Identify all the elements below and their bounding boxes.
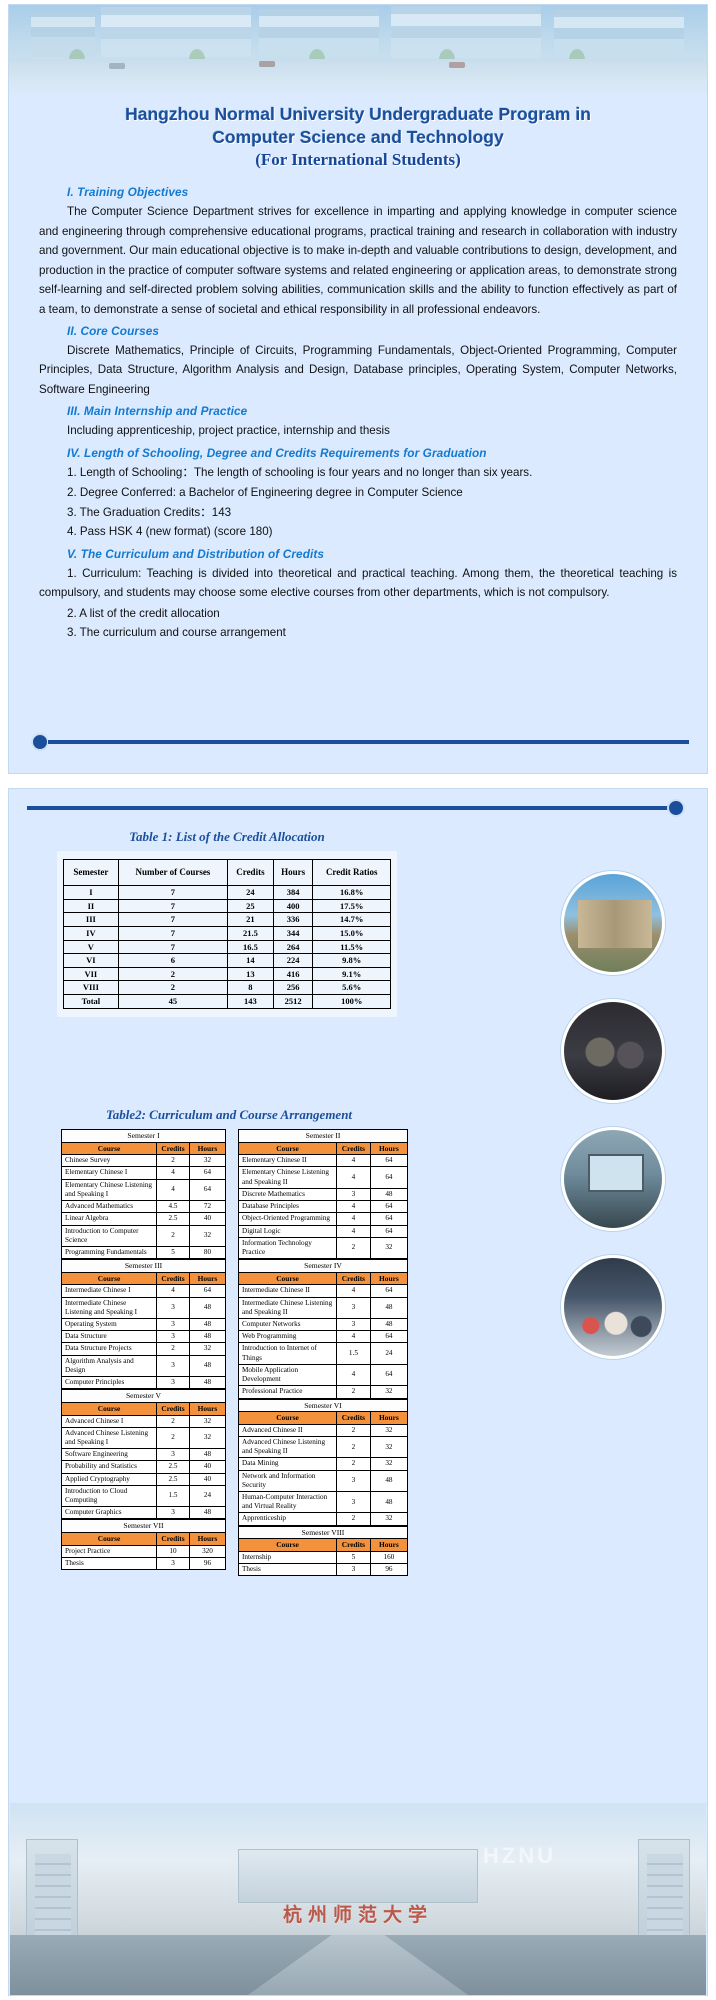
semester-block: Semester IVCourseCreditsHoursIntermediat… <box>238 1259 408 1398</box>
table1-container: Semester Number of Courses Credits Hours… <box>57 851 397 1017</box>
hours-cell: 64 <box>370 1201 407 1213</box>
section-4-item-3: 3. The Graduation Credits：143 <box>39 503 677 522</box>
section-heading-2: II. Core Courses <box>67 324 677 338</box>
curriculum-header-row: CourseCreditsHours <box>62 1403 226 1415</box>
panel-tables: Table 1: List of the Credit Allocation S… <box>8 788 708 1996</box>
table1-cell-1: 7 <box>118 913 227 927</box>
curriculum-header-row: CourseCreditsHours <box>239 1272 408 1284</box>
photo-students-lab <box>561 999 665 1103</box>
table1-cell-0: VII <box>64 967 119 981</box>
hours-cell: 64 <box>370 1364 407 1385</box>
course-name-cell: Introduction to Cloud Computing <box>62 1485 157 1506</box>
credits-cell: 3 <box>157 1319 190 1331</box>
table1-cell-4: 15.0% <box>313 926 391 940</box>
table-row: Computer Graphics348 <box>62 1507 226 1519</box>
hours-cell: 48 <box>189 1377 225 1389</box>
hours-cell: 48 <box>189 1297 225 1318</box>
table-row: Data Structure348 <box>62 1331 226 1343</box>
table1-cell-4: 17.5% <box>313 899 391 913</box>
credits-cell: 2 <box>157 1415 190 1427</box>
credits-cell: 2 <box>337 1458 371 1470</box>
credits-cell: 1.5 <box>337 1343 371 1364</box>
curriculum-th-hours: Hours <box>189 1272 225 1284</box>
curriculum-header-row: CourseCreditsHours <box>62 1272 226 1284</box>
table1-cell-3: 336 <box>273 913 313 927</box>
hours-cell: 32 <box>370 1458 407 1470</box>
credits-cell: 4 <box>157 1179 190 1200</box>
curriculum-th-credits: Credits <box>337 1539 371 1551</box>
table1-cell-2: 16.5 <box>228 940 274 954</box>
semester-block: Semester VIIICourseCreditsHoursInternshi… <box>238 1526 408 1577</box>
table1-cell-1: 2 <box>118 967 227 981</box>
hours-cell: 160 <box>370 1551 407 1563</box>
curriculum-column-left: Semester ICourseCreditsHoursChinese Surv… <box>61 1129 226 1576</box>
table-row: Advanced Chinese II232 <box>239 1424 408 1436</box>
credits-cell: 3 <box>157 1355 190 1376</box>
building-4 <box>391 6 541 58</box>
credits-cell: 3 <box>337 1319 371 1331</box>
table-row: II72540017.5% <box>64 899 391 913</box>
document-body: I. Training Objectives The Computer Scie… <box>9 170 707 642</box>
hours-cell: 40 <box>189 1461 225 1473</box>
credits-cell: 2 <box>337 1424 371 1436</box>
hours-cell: 64 <box>370 1167 407 1188</box>
credits-cell: 4.5 <box>157 1201 190 1213</box>
hours-cell: 24 <box>370 1343 407 1364</box>
curriculum-header-row: CourseCreditsHours <box>239 1412 408 1424</box>
hours-cell: 48 <box>370 1470 407 1491</box>
curriculum-th-course: Course <box>62 1533 157 1545</box>
course-name-cell: Advanced Chinese I <box>62 1415 157 1427</box>
table1-cell-0: I <box>64 886 119 900</box>
credits-cell: 3 <box>157 1377 190 1389</box>
course-name-cell: Human-Computer Interaction and Virtual R… <box>239 1492 337 1513</box>
table-row: VI6142249.8% <box>64 954 391 968</box>
table-row: Apprenticeship232 <box>239 1513 408 1525</box>
section-heading-3: III. Main Internship and Practice <box>67 404 677 418</box>
course-name-cell: Intermediate Chinese II <box>239 1285 337 1297</box>
table1-cell-2: 13 <box>228 967 274 981</box>
table-row: Introduction to Internet of Things1.524 <box>239 1343 408 1364</box>
course-name-cell: Data Structure <box>62 1331 157 1343</box>
table1-cell-4: 9.8% <box>313 954 391 968</box>
table-row: Digital Logic464 <box>239 1225 408 1237</box>
table-row: III72133614.7% <box>64 913 391 927</box>
credits-cell: 3 <box>337 1188 371 1200</box>
curriculum-th-hours: Hours <box>370 1272 407 1284</box>
section-5-item-3: 3. The curriculum and course arrangement <box>39 623 677 642</box>
photo-campus-building <box>561 871 665 975</box>
table-row: Algorithm Analysis and Design348 <box>62 1355 226 1376</box>
table-row: Elementary Chinese II464 <box>239 1155 408 1167</box>
course-name-cell: Operating System <box>62 1319 157 1331</box>
course-name-cell: Thesis <box>239 1564 337 1576</box>
curriculum-table: Semester VICourseCreditsHoursAdvanced Ch… <box>238 1399 408 1526</box>
page-title-line1: Hangzhou Normal University Undergraduate… <box>39 103 677 126</box>
hours-cell: 40 <box>189 1473 225 1485</box>
hours-cell: 64 <box>189 1167 225 1179</box>
table1-cell-2: 25 <box>228 899 274 913</box>
table-row: Intermediate Chinese II464 <box>239 1285 408 1297</box>
table-row: Object-Oriented Programming464 <box>239 1213 408 1225</box>
course-name-cell: Introduction to Internet of Things <box>239 1343 337 1364</box>
table-row: Elementary Chinese Listening and Speakin… <box>62 1179 226 1200</box>
course-name-cell: Discrete Mathematics <box>239 1188 337 1200</box>
section-5-item-2: 2. A list of the credit allocation <box>39 604 677 623</box>
hours-cell: 32 <box>370 1386 407 1398</box>
course-name-cell: Computer Networks <box>239 1319 337 1331</box>
semester-title-row: Semester I <box>62 1130 226 1143</box>
course-name-cell: Data Mining <box>239 1458 337 1470</box>
credits-cell: 3 <box>157 1297 190 1318</box>
divider-dot <box>31 733 49 751</box>
table-row: Operating System348 <box>62 1319 226 1331</box>
credits-cell: 4 <box>337 1213 371 1225</box>
curriculum-header-row: CourseCreditsHours <box>62 1533 226 1545</box>
credits-cell: 5 <box>337 1551 371 1563</box>
table1-cell-4: 16.8% <box>313 886 391 900</box>
table1-cell-2: 24 <box>228 886 274 900</box>
semester-block: Semester VCourseCreditsHoursAdvanced Chi… <box>61 1389 226 1519</box>
table-row: I72438416.8% <box>64 886 391 900</box>
hours-cell: 320 <box>189 1545 225 1557</box>
table1-cell-1: 45 <box>118 995 227 1009</box>
hours-cell: 24 <box>189 1485 225 1506</box>
course-name-cell: Advanced Chinese Listening and Speaking … <box>62 1427 157 1448</box>
table1-cell-4: 14.7% <box>313 913 391 927</box>
semester-title-row: Semester VII <box>62 1520 226 1533</box>
credits-cell: 4 <box>337 1225 371 1237</box>
credits-cell: 4 <box>337 1331 371 1343</box>
hours-cell: 32 <box>189 1343 225 1355</box>
table1-cell-3: 384 <box>273 886 313 900</box>
curriculum-table: Semester IIICourseCreditsHoursIntermedia… <box>61 1259 226 1389</box>
table1-cell-3: 400 <box>273 899 313 913</box>
semester-block: Semester IIICourseCreditsHoursIntermedia… <box>61 1259 226 1389</box>
section-heading-5: V. The Curriculum and Distribution of Cr… <box>67 547 677 561</box>
curriculum-th-hours: Hours <box>370 1539 407 1551</box>
table1-cell-1: 7 <box>118 940 227 954</box>
course-name-cell: Project Practice <box>62 1545 157 1557</box>
curriculum-th-course: Course <box>62 1272 157 1284</box>
hours-cell: 48 <box>189 1331 225 1343</box>
credits-cell: 2 <box>337 1436 371 1457</box>
semester-title-row: Semester VI <box>239 1399 408 1412</box>
hours-cell: 32 <box>189 1415 225 1427</box>
hours-cell: 64 <box>189 1285 225 1297</box>
table1-cell-2: 21 <box>228 913 274 927</box>
curriculum-th-hours: Hours <box>189 1142 225 1154</box>
curriculum-table: Semester VIIICourseCreditsHoursInternshi… <box>238 1526 408 1577</box>
hours-cell: 48 <box>370 1319 407 1331</box>
table1-cell-3: 344 <box>273 926 313 940</box>
table-row: Probability and Statistics2.540 <box>62 1461 226 1473</box>
table-row: Intermediate Chinese Listening and Speak… <box>62 1297 226 1318</box>
course-name-cell: Web Programming <box>239 1331 337 1343</box>
curriculum-th-credits: Credits <box>157 1272 190 1284</box>
course-name-cell: Elementary Chinese II <box>239 1155 337 1167</box>
table1-cell-1: 7 <box>118 926 227 940</box>
table1-cell-3: 224 <box>273 954 313 968</box>
table1-cell-0: IV <box>64 926 119 940</box>
curriculum-th-course: Course <box>62 1142 157 1154</box>
course-name-cell: Applied Cryptography <box>62 1473 157 1485</box>
hours-cell: 48 <box>189 1507 225 1519</box>
semester-title-row: Semester VIII <box>239 1526 408 1539</box>
hours-cell: 48 <box>370 1297 407 1318</box>
building-1 <box>31 11 95 57</box>
campus-footer-image: HZNU 杭州师范大学 <box>10 1803 706 1995</box>
table-row: Elementary Chinese Listening and Speakin… <box>239 1167 408 1188</box>
credits-cell: 4 <box>157 1285 190 1297</box>
table-row: Human-Computer Interaction and Virtual R… <box>239 1492 408 1513</box>
semester-title-row: Semester III <box>62 1260 226 1273</box>
curriculum-th-credits: Credits <box>157 1533 190 1545</box>
curriculum-th-course: Course <box>239 1142 337 1154</box>
title-block: Hangzhou Normal University Undergraduate… <box>9 97 707 170</box>
semester-title: Semester VI <box>239 1399 408 1412</box>
table-row: Advanced Chinese Listening and Speaking … <box>239 1436 408 1457</box>
table1-cell-0: III <box>64 913 119 927</box>
table-row: Software Engineering348 <box>62 1449 226 1461</box>
table-row: Mobile Application Development464 <box>239 1364 408 1385</box>
table-row: Network and Information Security348 <box>239 1470 408 1491</box>
hours-cell: 32 <box>370 1513 407 1525</box>
table-row: Professional Practice232 <box>239 1386 408 1398</box>
semester-title: Semester I <box>62 1130 226 1143</box>
table-row: Introduction to Cloud Computing1.524 <box>62 1485 226 1506</box>
course-name-cell: Software Engineering <box>62 1449 157 1461</box>
curriculum-th-course: Course <box>62 1403 157 1415</box>
table-row: VIII282565.6% <box>64 981 391 995</box>
campus-name-chinese: 杭州师范大学 <box>283 1900 433 1927</box>
course-name-cell: Intermediate Chinese I <box>62 1285 157 1297</box>
curriculum-header-row: CourseCreditsHours <box>239 1539 408 1551</box>
curriculum-column-right: Semester IICourseCreditsHoursElementary … <box>238 1129 408 1576</box>
credits-cell: 3 <box>157 1557 190 1569</box>
hours-cell: 48 <box>370 1188 407 1200</box>
course-name-cell: Intermediate Chinese Listening and Speak… <box>239 1297 337 1318</box>
table-row: Computer Principles348 <box>62 1377 226 1389</box>
course-name-cell: Intermediate Chinese Listening and Speak… <box>62 1297 157 1318</box>
table1-cell-3: 264 <box>273 940 313 954</box>
divider-bar <box>27 806 668 810</box>
curriculum-th-course: Course <box>239 1539 337 1551</box>
curriculum-th-hours: Hours <box>370 1142 407 1154</box>
semester-block: Semester ICourseCreditsHoursChinese Surv… <box>61 1129 226 1259</box>
course-name-cell: Elementary Chinese I <box>62 1167 157 1179</box>
table-row: VII2134169.1% <box>64 967 391 981</box>
divider-bar <box>48 740 689 744</box>
course-name-cell: Object-Oriented Programming <box>239 1213 337 1225</box>
course-name-cell: Internship <box>239 1551 337 1563</box>
car-icon <box>449 62 465 68</box>
table1-cell-4: 9.1% <box>313 967 391 981</box>
panel-overview: Hangzhou Normal University Undergraduate… <box>8 4 708 774</box>
hours-cell: 32 <box>189 1427 225 1448</box>
course-name-cell: Linear Algebra <box>62 1213 157 1225</box>
credits-cell: 3 <box>157 1331 190 1343</box>
table1-cell-2: 8 <box>228 981 274 995</box>
campus-main-building <box>238 1849 478 1903</box>
course-name-cell: Thesis <box>62 1557 157 1569</box>
hours-cell: 64 <box>370 1225 407 1237</box>
credits-cell: 4 <box>337 1364 371 1385</box>
curriculum-th-credits: Credits <box>337 1272 371 1284</box>
table1-th-hours: Hours <box>273 860 313 886</box>
hours-cell: 48 <box>189 1319 225 1331</box>
table1-th-courses: Number of Courses <box>118 860 227 886</box>
course-name-cell: Network and Information Security <box>239 1470 337 1491</box>
table1-cell-3: 256 <box>273 981 313 995</box>
section-4-item-1: 1. Length of Schooling：The length of sch… <box>39 463 677 482</box>
course-name-cell: Elementary Chinese Listening and Speakin… <box>62 1179 157 1200</box>
hours-cell: 64 <box>370 1331 407 1343</box>
hours-cell: 72 <box>189 1201 225 1213</box>
credits-cell: 3 <box>157 1449 190 1461</box>
credits-cell: 2.5 <box>157 1213 190 1225</box>
credits-cell: 2 <box>337 1386 371 1398</box>
table-row: Information Technology Practice232 <box>239 1237 408 1258</box>
course-name-cell: Elementary Chinese Listening and Speakin… <box>239 1167 337 1188</box>
hours-cell: 64 <box>370 1285 407 1297</box>
table1-body: I72438416.8%II72540017.5%III72133614.7%I… <box>64 886 391 1009</box>
hours-cell: 32 <box>189 1155 225 1167</box>
hours-cell: 96 <box>189 1557 225 1569</box>
table-row: Project Practice10320 <box>62 1545 226 1557</box>
table1-cell-4: 100% <box>313 995 391 1009</box>
curriculum-header-row: CourseCreditsHours <box>62 1142 226 1154</box>
course-name-cell: Data Structure Projects <box>62 1343 157 1355</box>
credits-cell: 10 <box>157 1545 190 1557</box>
credits-cell: 4 <box>337 1201 371 1213</box>
credits-cell: 2 <box>157 1343 190 1355</box>
table1-th-credits: Credits <box>228 860 274 886</box>
curriculum-th-course: Course <box>239 1412 337 1424</box>
car-icon <box>259 61 275 67</box>
table-row: Advanced Mathematics4.572 <box>62 1201 226 1213</box>
table1-cell-2: 14 <box>228 954 274 968</box>
semester-title: Semester VII <box>62 1520 226 1533</box>
section-5-item-1: 1. Curriculum: Teaching is divided into … <box>39 564 677 603</box>
course-name-cell: Programming Fundamentals <box>62 1246 157 1258</box>
semester-title-row: Semester IV <box>239 1260 408 1273</box>
table-row: Intermediate Chinese Listening and Speak… <box>239 1297 408 1318</box>
table-row: Web Programming464 <box>239 1331 408 1343</box>
credits-cell: 2 <box>157 1225 190 1246</box>
credits-cell: 2.5 <box>157 1473 190 1485</box>
credits-cell: 2.5 <box>157 1461 190 1473</box>
course-name-cell: Advanced Mathematics <box>62 1201 157 1213</box>
credits-cell: 3 <box>157 1507 190 1519</box>
table1-cell-0: V <box>64 940 119 954</box>
table1-title: Table 1: List of the Credit Allocation <box>57 829 397 845</box>
semester-block: Semester IICourseCreditsHoursElementary … <box>238 1129 408 1259</box>
section-4-item-4: 4. Pass HSK 4 (new format) (score 180) <box>39 522 677 541</box>
credits-cell: 3 <box>337 1470 371 1491</box>
section-body-2: Discrete Mathematics, Principle of Circu… <box>39 341 677 399</box>
credits-cell: 4 <box>157 1167 190 1179</box>
course-name-cell: Advanced Chinese Listening and Speaking … <box>239 1436 337 1457</box>
table1-cell-2: 143 <box>228 995 274 1009</box>
header-divider <box>27 799 685 817</box>
table2-title: Table2: Curriculum and Course Arrangemen… <box>49 1107 409 1123</box>
table-row: Database Principles464 <box>239 1201 408 1213</box>
semester-title: Semester VIII <box>239 1526 408 1539</box>
table-row: Introduction to Computer Science232 <box>62 1225 226 1246</box>
semester-title: Semester V <box>62 1390 226 1403</box>
page-subtitle: (For International Students) <box>39 150 677 170</box>
course-name-cell: Database Principles <box>239 1201 337 1213</box>
semester-title: Semester IV <box>239 1260 408 1273</box>
table1-cell-4: 5.6% <box>313 981 391 995</box>
table1-cell-0: VI <box>64 954 119 968</box>
course-name-cell: Digital Logic <box>239 1225 337 1237</box>
table1-cell-3: 2512 <box>273 995 313 1009</box>
table-row: Advanced Chinese I232 <box>62 1415 226 1427</box>
curriculum-th-credits: Credits <box>337 1142 371 1154</box>
curriculum-table: Semester VCourseCreditsHoursAdvanced Chi… <box>61 1389 226 1519</box>
page-title-line2: Computer Science and Technology <box>39 126 677 149</box>
curriculum-header-row: CourseCreditsHours <box>239 1142 408 1154</box>
credit-allocation-table: Semester Number of Courses Credits Hours… <box>63 859 391 1009</box>
table-row: Data Mining232 <box>239 1458 408 1470</box>
hours-cell: 48 <box>189 1449 225 1461</box>
course-name-cell: Probability and Statistics <box>62 1461 157 1473</box>
hours-cell: 32 <box>370 1424 407 1436</box>
hours-cell: 40 <box>189 1213 225 1225</box>
table-row: Advanced Chinese Listening and Speaking … <box>62 1427 226 1448</box>
table-row: Programming Fundamentals580 <box>62 1246 226 1258</box>
section-heading-4: IV. Length of Schooling, Degree and Cred… <box>67 446 677 460</box>
semester-block: Semester VICourseCreditsHoursAdvanced Ch… <box>238 1399 408 1526</box>
course-name-cell: Computer Graphics <box>62 1507 157 1519</box>
credits-cell: 2 <box>157 1155 190 1167</box>
course-name-cell: Information Technology Practice <box>239 1237 337 1258</box>
curriculum-table: Semester VIICourseCreditsHoursProject Pr… <box>61 1519 226 1570</box>
section-heading-1: I. Training Objectives <box>67 185 677 199</box>
hours-cell: 32 <box>370 1237 407 1258</box>
credits-cell: 4 <box>337 1285 371 1297</box>
hours-cell: 32 <box>370 1436 407 1457</box>
curriculum-table: Semester IVCourseCreditsHoursIntermediat… <box>238 1259 408 1398</box>
semester-title-row: Semester V <box>62 1390 226 1403</box>
curriculum-th-hours: Hours <box>189 1403 225 1415</box>
hours-cell: 80 <box>189 1246 225 1258</box>
table1-cell-1: 7 <box>118 899 227 913</box>
table-row: Intermediate Chinese I464 <box>62 1285 226 1297</box>
credits-cell: 4 <box>337 1155 371 1167</box>
table1-th-ratios: Credit Ratios <box>313 860 391 886</box>
semester-title-row: Semester II <box>239 1130 408 1143</box>
course-name-cell: Algorithm Analysis and Design <box>62 1355 157 1376</box>
course-name-cell: Chinese Survey <box>62 1155 157 1167</box>
curriculum-tables: Semester ICourseCreditsHoursChinese Surv… <box>61 1129 661 1576</box>
credits-cell: 5 <box>157 1246 190 1258</box>
hours-cell: 64 <box>370 1155 407 1167</box>
curriculum-th-course: Course <box>239 1272 337 1284</box>
watermark-text: HZNU <box>483 1843 556 1869</box>
curriculum-th-hours: Hours <box>189 1533 225 1545</box>
table-row: Total451432512100% <box>64 995 391 1009</box>
table1-cell-1: 6 <box>118 954 227 968</box>
semester-block: Semester VIICourseCreditsHoursProject Pr… <box>61 1519 226 1570</box>
curriculum-th-credits: Credits <box>337 1412 371 1424</box>
building-2 <box>101 7 251 57</box>
hours-cell: 48 <box>370 1492 407 1513</box>
section-4-item-2: 2. Degree Conferred: a Bachelor of Engin… <box>39 483 677 502</box>
curriculum-table: Semester ICourseCreditsHoursChinese Surv… <box>61 1129 226 1259</box>
